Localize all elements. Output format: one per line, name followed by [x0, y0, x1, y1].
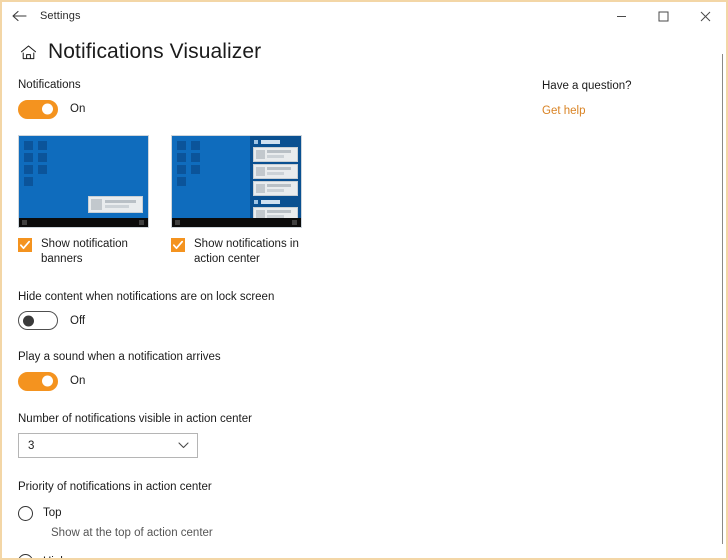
back-arrow-icon[interactable] — [2, 3, 36, 29]
action-center-group-header — [254, 200, 298, 204]
notifications-setting: Notifications On — [18, 78, 542, 119]
show-banners-checkbox-row[interactable]: Show notification banners — [18, 237, 149, 268]
radio-high[interactable] — [18, 554, 33, 560]
home-icon[interactable] — [18, 42, 38, 62]
maximize-icon[interactable] — [642, 2, 684, 30]
action-center-group — [253, 140, 298, 196]
notification-card — [253, 147, 298, 162]
play-sound-toggle-row: On — [18, 372, 542, 391]
hide-content-toggle[interactable] — [18, 311, 58, 330]
close-icon[interactable] — [684, 2, 726, 30]
toggle-knob — [42, 376, 53, 387]
action-center-group-header — [254, 140, 298, 144]
priority-option-top: Top Show at the top of action center — [18, 506, 542, 542]
action-center-preview-cell: Show notifications in action center — [171, 135, 302, 268]
preview-thumbnails: Show notification banners — [18, 135, 542, 268]
hide-content-label: Hide content when notifications are on l… — [18, 290, 542, 306]
scrollbar-track[interactable] — [722, 54, 723, 544]
minimize-icon[interactable] — [600, 2, 642, 30]
window-title: Settings — [40, 10, 81, 22]
show-in-action-center-checkbox[interactable] — [171, 238, 185, 252]
banner-preview-cell: Show notification banners — [18, 135, 149, 268]
show-in-action-center-label: Show notifications in action center — [194, 237, 302, 268]
toggle-knob — [23, 315, 34, 326]
radio-label-top: Top — [43, 507, 62, 519]
number-visible-label: Number of notifications visible in actio… — [18, 412, 542, 428]
show-banners-label: Show notification banners — [41, 237, 149, 268]
notification-card — [253, 181, 298, 196]
taskbar-mock — [19, 218, 148, 227]
action-center-preview-image — [171, 135, 302, 228]
radio-row-top[interactable]: Top — [18, 506, 542, 521]
hide-content-setting: Hide content when notifications are on l… — [18, 290, 542, 331]
get-help-link[interactable]: Get help — [542, 105, 585, 117]
notifications-toggle-row: On — [18, 100, 542, 119]
banner-preview-image — [18, 135, 149, 228]
help-sidebar: Have a question? Get help — [542, 78, 712, 560]
radio-row-high[interactable]: High — [18, 554, 542, 560]
priority-label: Priority of notifications in action cent… — [18, 480, 542, 496]
number-visible-dropdown[interactable]: 3 — [18, 433, 198, 458]
main-column: Notifications On — [2, 78, 542, 560]
content-area: Notifications On — [2, 64, 726, 560]
notification-banner-mock — [88, 196, 143, 213]
help-question-title: Have a question? — [542, 80, 712, 92]
play-sound-toggle[interactable] — [18, 372, 58, 391]
show-in-action-center-checkbox-row[interactable]: Show notifications in action center — [171, 237, 302, 268]
notification-card — [253, 164, 298, 179]
window-controls — [600, 2, 726, 30]
radio-top[interactable] — [18, 506, 33, 521]
number-visible-setting: Number of notifications visible in actio… — [18, 412, 542, 459]
priority-option-high: High Show above normal priority notifica… — [18, 554, 542, 560]
page-header: Notifications Visualizer — [2, 30, 726, 64]
radio-desc-top: Show at the top of action center — [51, 526, 542, 542]
show-banners-checkbox[interactable] — [18, 238, 32, 252]
hide-content-toggle-row: Off — [18, 311, 542, 330]
notifications-label: Notifications — [18, 78, 542, 94]
notifications-toggle[interactable] — [18, 100, 58, 119]
notifications-toggle-state: On — [70, 103, 85, 115]
radio-label-high: High — [43, 556, 67, 560]
banner-app-icon — [91, 199, 102, 210]
page-title: Notifications Visualizer — [48, 40, 261, 64]
hide-content-toggle-state: Off — [70, 315, 85, 327]
title-bar: Settings — [2, 2, 726, 30]
priority-setting: Priority of notifications in action cent… — [18, 480, 542, 560]
toggle-knob — [42, 104, 53, 115]
play-sound-setting: Play a sound when a notification arrives… — [18, 350, 542, 391]
chevron-down-icon — [178, 442, 189, 449]
play-sound-toggle-state: On — [70, 375, 85, 387]
banner-text-lines — [105, 200, 140, 208]
taskbar-mock — [172, 218, 301, 227]
settings-window: Settings Notifications Visualizer — [0, 0, 728, 560]
action-center-panel-mock — [250, 136, 301, 218]
number-visible-value: 3 — [28, 440, 34, 452]
play-sound-label: Play a sound when a notification arrives — [18, 350, 542, 366]
